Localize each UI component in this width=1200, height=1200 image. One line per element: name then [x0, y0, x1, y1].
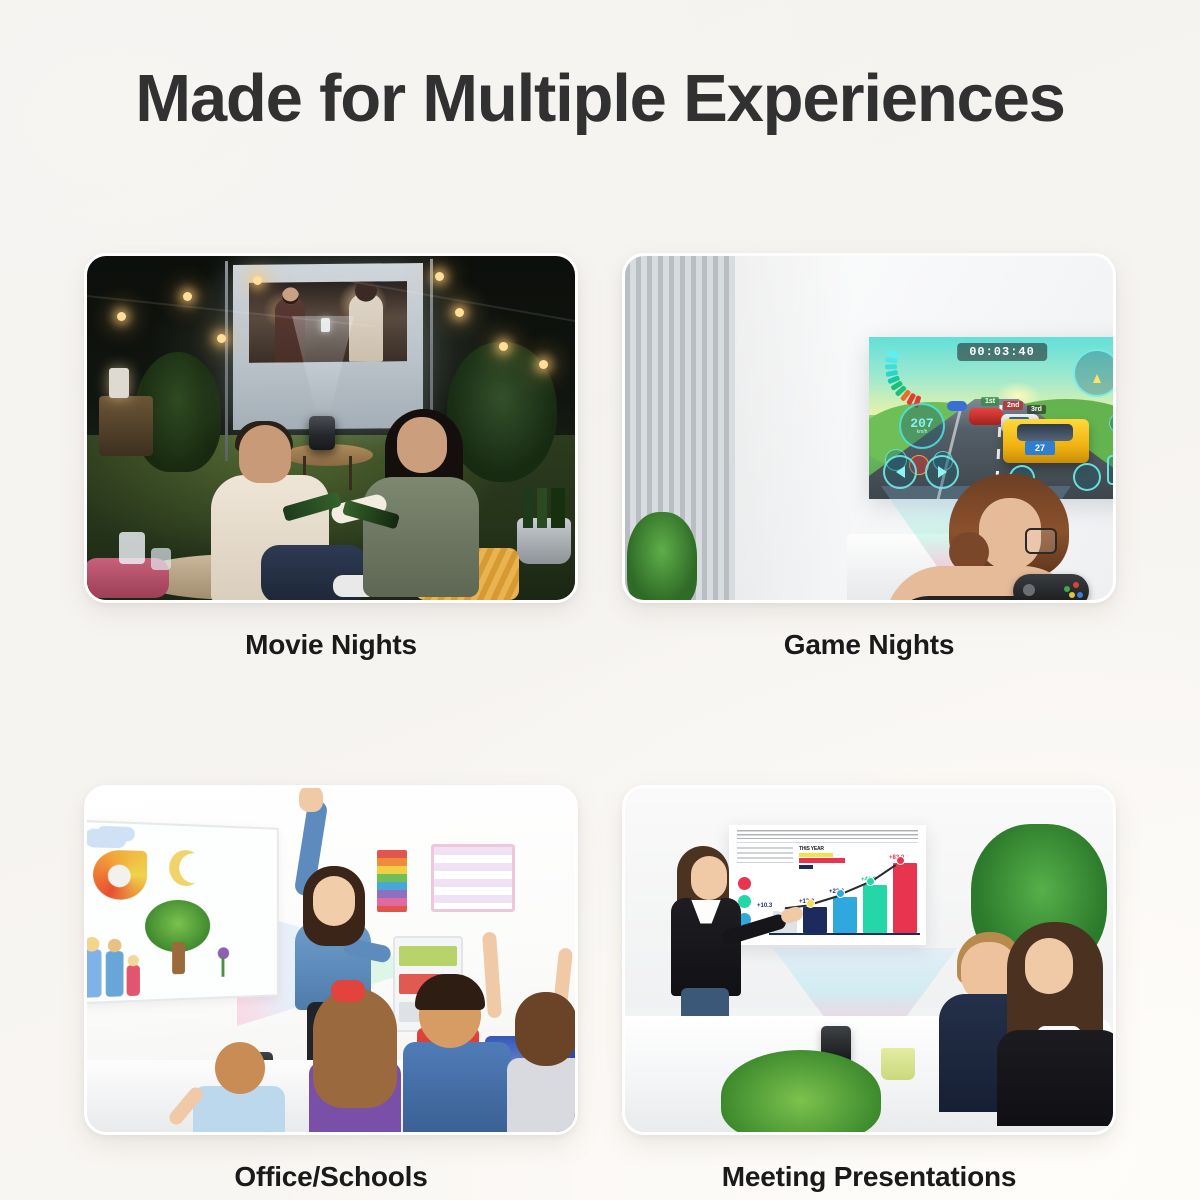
game-speed-readout: 207 km/h: [899, 403, 945, 449]
woman-head: [397, 417, 447, 473]
drawing-cloud: [87, 828, 127, 848]
game-minimap-icon[interactable]: [1073, 349, 1113, 397]
man-head: [239, 425, 291, 483]
trend-marker-4: [866, 877, 875, 886]
student: [403, 980, 513, 1132]
light-bulb: [499, 342, 508, 351]
game-menu-button[interactable]: [1073, 463, 1101, 491]
light-bulb: [217, 334, 226, 343]
card-office-schools[interactable]: [84, 785, 578, 1135]
student-head: [215, 1042, 265, 1094]
teacher-raised-hand: [299, 788, 323, 812]
drawing-family: [87, 938, 145, 997]
student-shirt: [403, 1042, 511, 1132]
card-movie-nights[interactable]: [84, 253, 578, 603]
light-bulb: [117, 312, 126, 321]
card-game-nights[interactable]: 00:03:40: [622, 253, 1116, 603]
game-controller[interactable]: [1013, 574, 1089, 600]
game-car-blue: [947, 401, 967, 411]
chart-axis: [769, 933, 920, 935]
light-bulb: [435, 272, 444, 281]
game-car-red: [969, 408, 1003, 425]
light-bulb: [539, 360, 548, 369]
classroom-wall-chart: [377, 850, 407, 912]
table-fern: [721, 1050, 881, 1132]
game-garage-button[interactable]: [1107, 455, 1113, 485]
feature-cell-meeting-presentations: THIS YEAR +10.3 +12.0: [622, 785, 1116, 1193]
bar-label-1: +10.3: [757, 903, 772, 909]
drawing-comet: [93, 850, 147, 900]
student: [193, 1036, 285, 1132]
trend-marker-3: [836, 889, 845, 898]
caption-meeting-presentations: Meeting Presentations: [622, 1161, 1116, 1193]
student-hair: [313, 988, 397, 1108]
student-hair: [515, 992, 575, 1066]
drawing-person: [127, 965, 140, 996]
feature-cell-office-schools: Office/Schools: [84, 785, 578, 1193]
light-wire: [87, 294, 375, 327]
light-bulb: [183, 292, 192, 301]
promo-page: Made for Multiple Experiences: [0, 0, 1200, 1200]
speed-unit: km/h: [917, 430, 928, 435]
trend-marker-2: [806, 899, 815, 908]
drawing-person: [87, 949, 102, 997]
classroom-calendar: [431, 844, 515, 912]
game-timer: 00:03:40: [957, 343, 1047, 361]
wall-shadow: [735, 256, 855, 600]
game-car-player-yellow: 27: [1003, 419, 1089, 463]
game-left-button[interactable]: [883, 455, 917, 489]
scene-game-night: 00:03:40: [625, 256, 1113, 600]
position-1st: 1st: [981, 397, 999, 406]
teacher-head: [313, 876, 355, 926]
car-number: 27: [1025, 441, 1055, 455]
card-meeting-presentations[interactable]: THIS YEAR +10.3 +12.0: [622, 785, 1116, 1135]
scene-meeting-room: THIS YEAR +10.3 +12.0: [625, 788, 1113, 1132]
caption-office-schools: Office/Schools: [84, 1161, 578, 1193]
student-raised-arm: [482, 932, 502, 1019]
scene-backyard-movie-night: [87, 256, 575, 600]
caption-game-nights: Game Nights: [622, 629, 1116, 661]
slide-title-text: [737, 830, 918, 839]
wine-bottles: [523, 488, 565, 528]
tree-trunk: [172, 942, 185, 974]
trend-marker-5: [896, 856, 905, 865]
projected-drawing-board: [87, 820, 279, 1005]
green-cup: [881, 1048, 915, 1080]
light-wire: [337, 278, 575, 327]
light-bulb: [455, 308, 464, 317]
student: [305, 992, 401, 1132]
page-title: Made for Multiple Experiences: [0, 64, 1200, 134]
student-hair: [415, 974, 485, 1010]
drawing-tree: [145, 900, 210, 973]
feature-cell-movie-nights: Movie Nights: [84, 253, 578, 661]
position-3rd: 3rd: [1027, 405, 1046, 414]
position-2nd: 2nd: [1003, 401, 1023, 410]
car-windshield: [1017, 424, 1073, 441]
caption-movie-nights: Movie Nights: [84, 629, 578, 661]
game-right-button[interactable]: [925, 455, 959, 489]
person-colleague-female: [997, 926, 1113, 1122]
drawing-moon: [169, 850, 202, 887]
student: [507, 992, 575, 1132]
drawing-flower: [214, 947, 231, 977]
slide-divider: [737, 842, 918, 843]
drinking-glass: [151, 548, 171, 570]
potted-plant: [627, 512, 697, 600]
colleague-blazer: [997, 1030, 1113, 1126]
feature-grid: Movie Nights: [84, 253, 1116, 1193]
drawing-person: [106, 951, 124, 997]
light-bulb: [253, 276, 262, 285]
hair-bow: [331, 980, 365, 1002]
scene-classroom: [87, 788, 575, 1132]
presenter-head: [691, 856, 727, 900]
drinking-glass: [119, 532, 145, 564]
feature-cell-game-nights: 00:03:40: [622, 253, 1116, 661]
colleague-head: [1025, 938, 1073, 994]
glasses-icon: [1025, 528, 1057, 554]
student-shirt: [507, 1058, 575, 1132]
